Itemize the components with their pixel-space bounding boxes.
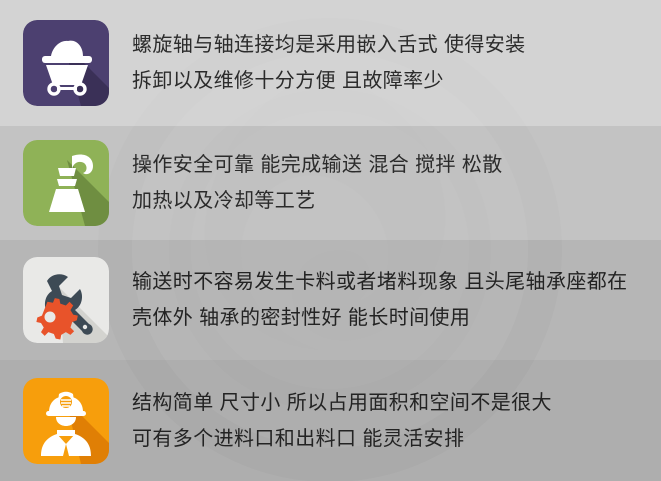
icon-container (0, 378, 132, 464)
feature-row: 螺旋轴与轴连接均是采用嵌入舌式 使得安装 拆卸以及维修十分方便 且故障率少 (0, 0, 661, 126)
worker-helmet-icon (23, 378, 109, 464)
feature-row-list: 螺旋轴与轴连接均是采用嵌入舌式 使得安装 拆卸以及维修十分方便 且故障率少 操作… (0, 0, 661, 481)
icon-container (0, 140, 132, 226)
feature-text: 操作安全可靠 能完成输送 混合 搅拌 松散 加热以及冷却等工艺 (132, 154, 661, 212)
feature-row: 结构简单 尺寸小 所以占用面积和空间不是很大 可有多个进料口和出料口 能灵活安排 (0, 360, 661, 481)
wrench-gear-icon (23, 257, 109, 343)
icon-container (0, 257, 132, 343)
feature-line: 输送时不容易发生卡料或者堵料现象 且头尾轴承座都在 (132, 271, 651, 293)
feature-line: 拆卸以及维修十分方便 且故障率少 (132, 70, 651, 92)
feature-line: 壳体外 轴承的密封性好 能长时间使用 (132, 307, 651, 329)
feature-row: 输送时不容易发生卡料或者堵料现象 且头尾轴承座都在 壳体外 轴承的密封性好 能长… (0, 240, 661, 360)
feature-line: 操作安全可靠 能完成输送 混合 搅拌 松散 (132, 154, 651, 176)
icon-container (0, 20, 132, 106)
feature-text: 结构简单 尺寸小 所以占用面积和空间不是很大 可有多个进料口和出料口 能灵活安排 (132, 392, 661, 450)
feature-line: 可有多个进料口和出料口 能灵活安排 (132, 428, 651, 450)
feature-line: 加热以及冷却等工艺 (132, 190, 651, 212)
feature-text: 输送时不容易发生卡料或者堵料现象 且头尾轴承座都在 壳体外 轴承的密封性好 能长… (132, 271, 661, 329)
feature-line: 螺旋轴与轴连接均是采用嵌入舌式 使得安装 (132, 34, 651, 56)
factory-chimney-icon (23, 140, 109, 226)
feature-text: 螺旋轴与轴连接均是采用嵌入舌式 使得安装 拆卸以及维修十分方便 且故障率少 (132, 34, 661, 92)
feature-row: 操作安全可靠 能完成输送 混合 搅拌 松散 加热以及冷却等工艺 (0, 126, 661, 240)
feature-line: 结构简单 尺寸小 所以占用面积和空间不是很大 (132, 392, 651, 414)
mine-cart-icon (23, 20, 109, 106)
